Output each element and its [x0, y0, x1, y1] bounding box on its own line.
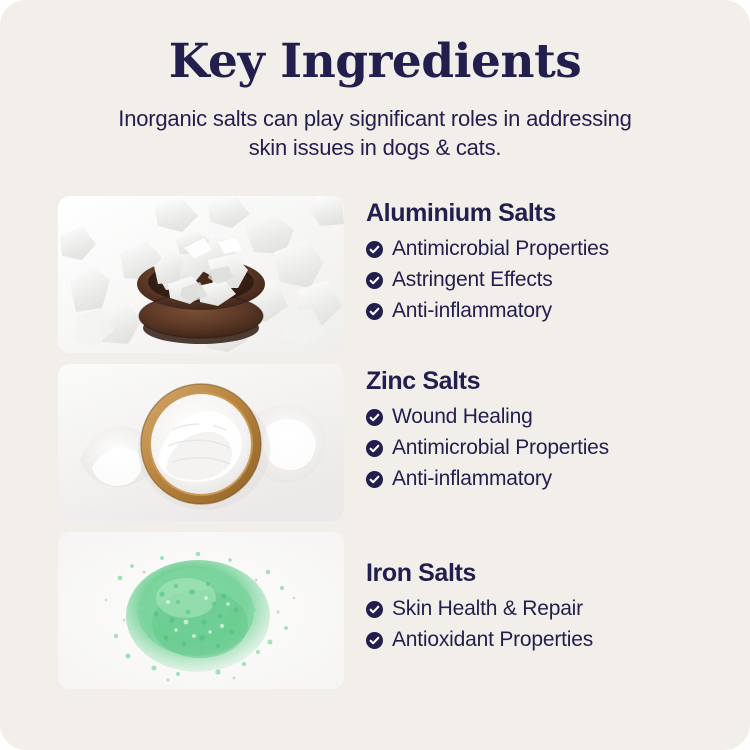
ingredient-section-aluminium-salts: Aluminium Salts Antimicrobial Properties… — [0, 196, 750, 353]
benefit-label: Anti-inflammatory — [392, 297, 552, 324]
aluminium-salts-info: Aluminium Salts Antimicrobial Properties… — [344, 196, 750, 328]
aluminium-salts-photo — [58, 196, 344, 353]
check-circle-icon — [366, 272, 383, 289]
ingredient-section-zinc-salts: Zinc Salts Wound Healing Antimicrobial P… — [0, 364, 750, 521]
benefit-list-zinc-salts: Wound Healing Antimicrobial Properties A… — [366, 403, 750, 492]
ingredient-section-iron-salts: Iron Salts Skin Health & Repair Antioxid… — [0, 532, 750, 689]
section-title-zinc-salts: Zinc Salts — [366, 366, 750, 396]
poster-header: Key Ingredients Inorganic salts can play… — [0, 0, 750, 162]
benefit-list-aluminium-salts: Antimicrobial Properties Astringent Effe… — [366, 235, 750, 324]
check-circle-icon — [366, 409, 383, 426]
iron-salts-illustration — [58, 532, 344, 689]
zinc-salts-info: Zinc Salts Wound Healing Antimicrobial P… — [344, 364, 750, 496]
aluminium-salts-illustration — [58, 196, 344, 353]
list-item: Astringent Effects — [366, 266, 750, 293]
section-title-aluminium-salts: Aluminium Salts — [366, 198, 750, 228]
key-ingredients-poster: Key Ingredients Inorganic salts can play… — [0, 0, 750, 750]
list-item: Antimicrobial Properties — [366, 434, 750, 461]
check-circle-icon — [366, 241, 383, 258]
zinc-salts-photo — [58, 364, 344, 521]
benefit-label: Anti-inflammatory — [392, 465, 552, 492]
benefit-label: Antimicrobial Properties — [392, 235, 609, 262]
check-circle-icon — [366, 303, 383, 320]
benefit-list-iron-salts: Skin Health & Repair Antioxidant Propert… — [366, 595, 750, 653]
list-item: Antimicrobial Properties — [366, 235, 750, 262]
benefit-label: Skin Health & Repair — [392, 595, 583, 622]
list-item: Anti-inflammatory — [366, 465, 750, 492]
iron-salts-photo — [58, 532, 344, 689]
list-item: Wound Healing — [366, 403, 750, 430]
list-item: Anti-inflammatory — [366, 297, 750, 324]
list-item: Skin Health & Repair — [366, 595, 750, 622]
list-item: Antioxidant Properties — [366, 626, 750, 653]
benefit-label: Antimicrobial Properties — [392, 434, 609, 461]
check-circle-icon — [366, 440, 383, 457]
check-circle-icon — [366, 632, 383, 649]
check-circle-icon — [366, 601, 383, 618]
check-circle-icon — [366, 471, 383, 488]
iron-salts-info: Iron Salts Skin Health & Repair Antioxid… — [344, 532, 750, 657]
benefit-label: Astringent Effects — [392, 266, 553, 293]
section-title-iron-salts: Iron Salts — [366, 558, 750, 588]
page-subtitle: Inorganic salts can play significant rol… — [110, 104, 640, 162]
ingredient-sections: Aluminium Salts Antimicrobial Properties… — [0, 196, 750, 700]
page-title: Key Ingredients — [0, 34, 750, 90]
benefit-label: Antioxidant Properties — [392, 626, 593, 653]
zinc-salts-illustration — [58, 364, 344, 521]
benefit-label: Wound Healing — [392, 403, 533, 430]
